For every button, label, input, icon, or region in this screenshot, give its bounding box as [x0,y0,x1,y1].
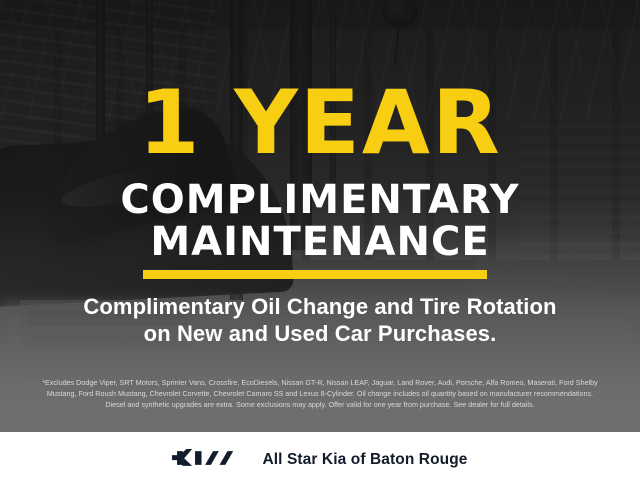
dealer-name: All Star Kia of Baton Rouge [262,451,467,469]
dealer-footer: All Star Kia of Baton Rouge [0,432,640,488]
banner-content: 1 YEAR COMPLIMENTARY MAINTENANCE Complim… [0,0,640,488]
disclaimer-line-3: Diesel and synthetic upgrades are extra.… [14,399,626,410]
promo-banner: 1 YEAR COMPLIMENTARY MAINTENANCE Complim… [0,0,640,488]
disclaimer-line-1: *Excludes Dodge Viper, SRT Motors, Sprin… [14,377,626,388]
disclaimer-line-2: Mustang, Ford Roush Mustang, Chevrolet C… [14,388,626,399]
disclaimer-fine-print: *Excludes Dodge Viper, SRT Motors, Sprin… [14,377,626,410]
tagline-line-1: Complimentary Oil Change and Tire Rotati… [83,294,556,319]
headline-1-year: 1 YEAR [0,78,640,168]
tagline: Complimentary Oil Change and Tire Rotati… [0,293,640,347]
subheadline-complimentary: COMPLIMENTARY [0,179,640,221]
subheadline-maintenance: MAINTENANCE [0,221,640,263]
kia-logo [172,447,244,474]
tagline-line-2: on New and Used Car Purchases. [0,320,640,347]
yellow-divider-rule [143,270,487,279]
